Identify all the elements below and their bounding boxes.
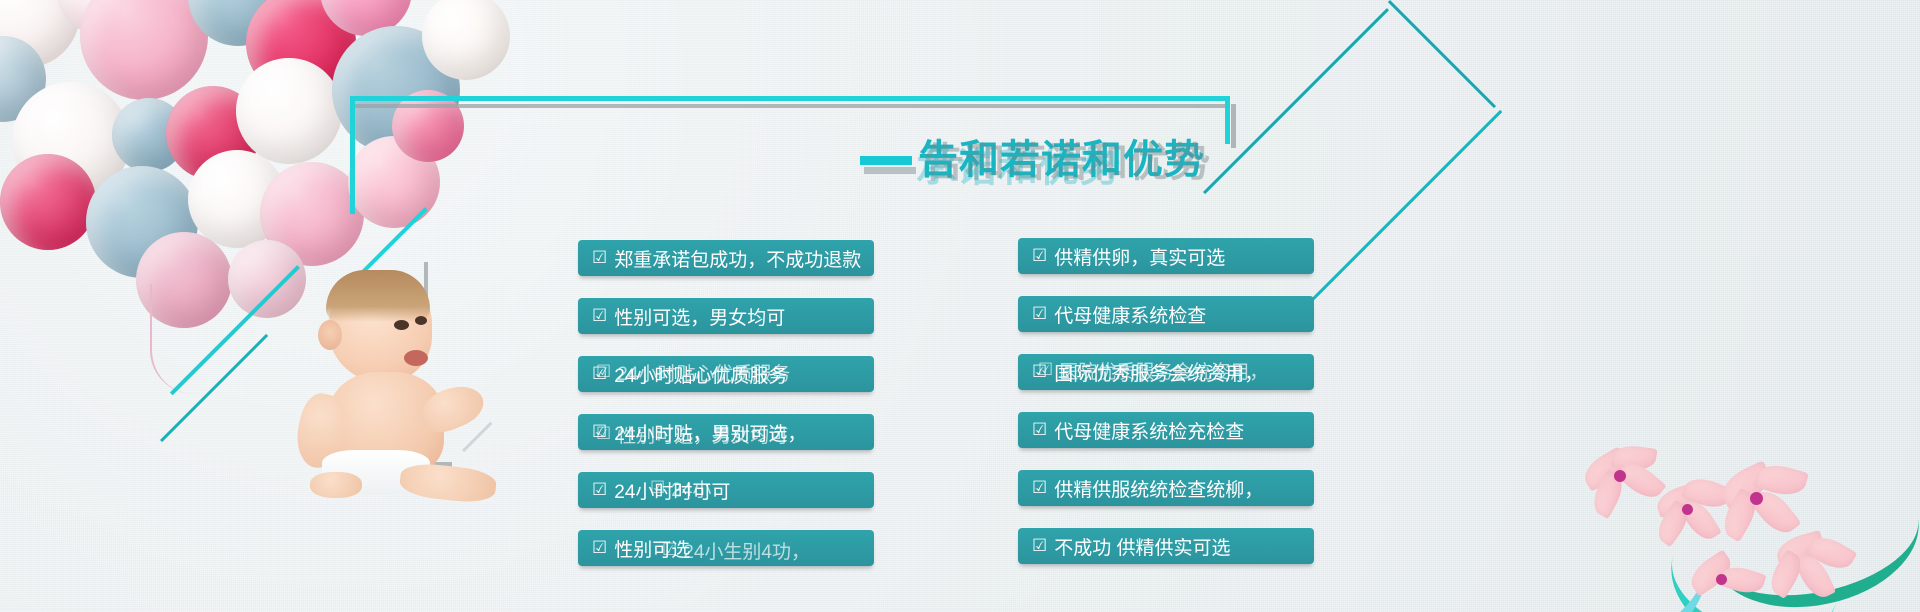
feature-pill-label: 性别可选 (614, 535, 690, 562)
feature-pill[interactable]: ☑供精供卵，真实可选 (1018, 238, 1314, 274)
title-dash-icon (860, 156, 912, 165)
feature-pill[interactable]: ☑24小时贴，男别可选，☑性别可选，男女均可 (578, 414, 874, 450)
feature-pill-label: 供精供服统统检查统柳， (1054, 475, 1263, 502)
page-title-ghost-2: 承诺和优势 (916, 142, 1121, 194)
check-box-icon: ☑ (1032, 420, 1047, 440)
check-box-icon: ☑ (592, 248, 607, 268)
feature-pill[interactable]: ☑代母健康系统检充检查 (1018, 412, 1314, 448)
check-box-icon: ☑ (592, 480, 607, 500)
feature-list-right: ☑供精供卵，真实可选☑代母健康系统检查☑国际优秀服务会统资用，☑医院优质服务会统… (1018, 238, 1314, 564)
feature-pill-label: 24小时时可可 (614, 477, 730, 504)
feature-pill-label: 不成功 供精供实可选 (1054, 533, 1230, 560)
section-title: 告和若诺和优势 承诺和优势 告和若诺和优势 (860, 130, 1205, 190)
feature-pill[interactable]: ☑24小时贴心优质服务☑24小时贴心优质服务 (578, 356, 874, 392)
feature-pill[interactable]: ☑不成功 供精供实可选 (1018, 528, 1314, 564)
feature-pill-label: 国际优秀服务会统资用， (1054, 359, 1263, 386)
check-box-icon: ☑ (1032, 304, 1047, 324)
check-box-icon: ☑ (1032, 536, 1047, 556)
check-box-icon: ☑ (1032, 362, 1047, 382)
check-box-icon: ☑ (592, 364, 607, 384)
title-text-stack: 告和若诺和优势 承诺和优势 告和若诺和优势 (918, 134, 1205, 186)
feature-pill[interactable]: ☑24小时时可可☑24小 (578, 472, 874, 508)
feature-pill[interactable]: ☑供精供服统统检查统柳， (1018, 470, 1314, 506)
feature-pill-label: 代母健康系统检充检查 (1054, 417, 1244, 444)
feature-pill-label: 供精供卵，真实可选 (1054, 243, 1225, 270)
feature-pill-label: 24小时贴，男别可选， (614, 419, 806, 446)
check-box-icon: ☑ (592, 538, 607, 558)
flower-ribbon-decoration (1560, 362, 1920, 612)
feature-list-left: ☑郑重承诺包成功，不成功退款☑性别可选，男女均可☑24小时贴心优质服务☑24小时… (578, 240, 874, 566)
feature-pill[interactable]: ☑性别可选☑24小生别4功， (578, 530, 874, 566)
feature-pill-label: 郑重承诺包成功，不成功退款 (614, 245, 861, 272)
feature-pill-label: 代母健康系统检查 (1054, 301, 1206, 328)
check-box-icon: ☑ (1032, 246, 1047, 266)
check-box-icon: ☑ (1032, 478, 1047, 498)
feature-pill[interactable]: ☑郑重承诺包成功，不成功退款 (578, 240, 874, 276)
baby-photo (282, 268, 497, 496)
feature-pill-label: 24小时贴心优质服务 (614, 361, 787, 388)
promo-banner: 告和若诺和优势 承诺和优势 告和若诺和优势 ☑郑重承诺包成功，不成功退款☑性别可… (0, 0, 1920, 612)
check-box-icon: ☑ (592, 422, 607, 442)
feature-pill[interactable]: ☑国际优秀服务会统资用，☑医院优质服务会统姿用， (1018, 354, 1314, 390)
feature-pill[interactable]: ☑代母健康系统检查 (1018, 296, 1314, 332)
check-box-icon: ☑ (592, 306, 607, 326)
feature-pill[interactable]: ☑性别可选，男女均可 (578, 298, 874, 334)
feature-pill-label: 性别可选，男女均可 (614, 303, 785, 330)
